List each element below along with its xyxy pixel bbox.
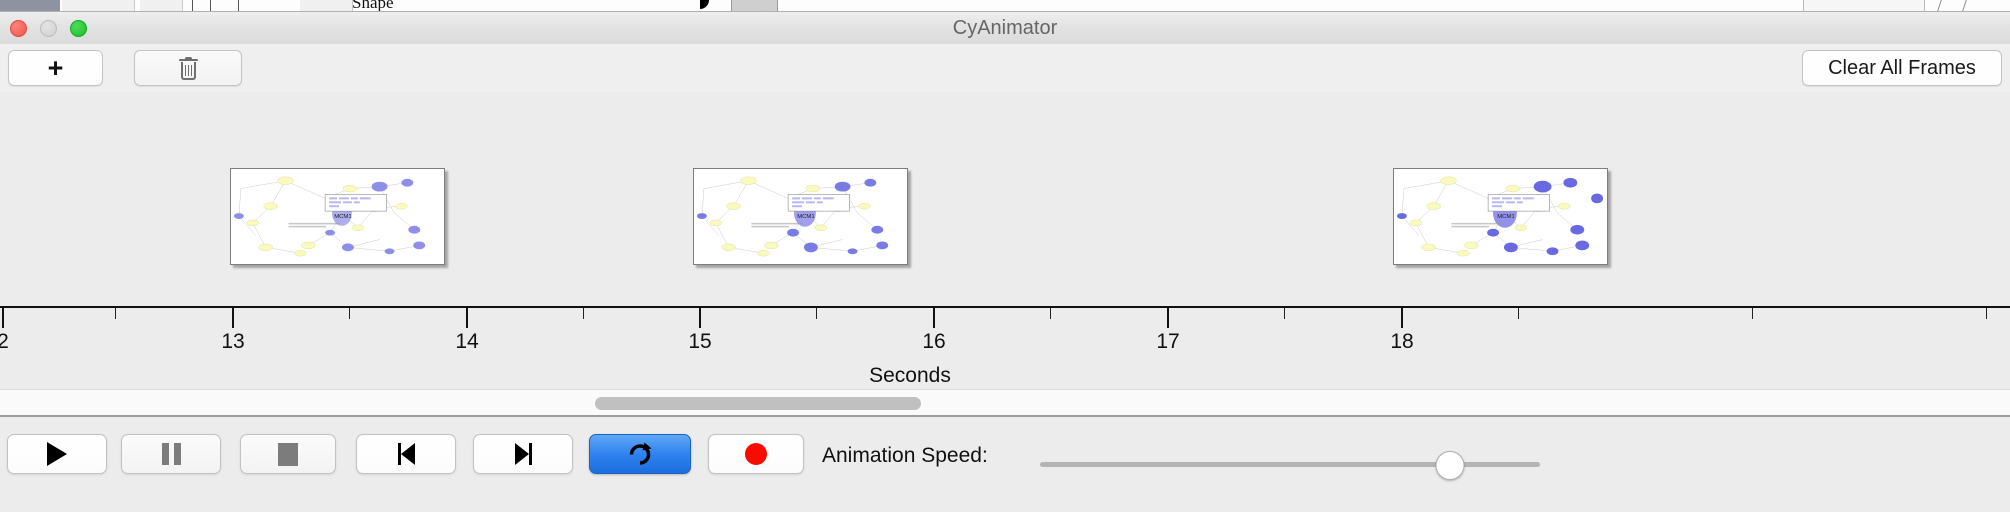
timeline-scrollbar[interactable] xyxy=(0,389,2010,416)
clear-all-frames-label: Clear All Frames xyxy=(1828,57,1976,80)
axis-major-tick xyxy=(1401,308,1403,328)
toolbar: + Clear All Frames xyxy=(0,44,2010,93)
skip-forward-button[interactable] xyxy=(473,434,573,474)
axis-tick-label: 14 xyxy=(455,330,478,354)
slider-track[interactable] xyxy=(1040,462,1540,467)
record-icon xyxy=(745,443,767,465)
axis-major-tick xyxy=(933,308,935,328)
svg-text:MCM1: MCM1 xyxy=(797,214,814,220)
record-button[interactable] xyxy=(708,434,804,474)
pause-icon xyxy=(162,443,181,465)
svg-text:MCM1: MCM1 xyxy=(334,214,351,220)
axis-tick-label: 15 xyxy=(688,330,711,354)
svg-text:MCM1: MCM1 xyxy=(1497,214,1514,220)
play-button[interactable] xyxy=(7,434,107,474)
plus-icon: + xyxy=(48,55,64,82)
axis-minor-tick xyxy=(816,308,817,319)
axis-minor-tick xyxy=(1284,308,1285,319)
network-graph-thumbnail: MCM1 xyxy=(694,169,907,264)
axis-minor-tick xyxy=(583,308,584,319)
skip-forward-icon xyxy=(515,443,532,465)
clear-all-frames-button[interactable]: Clear All Frames xyxy=(1802,50,2002,86)
title-bar: CyAnimator xyxy=(0,12,2010,45)
axis-tick-label: 16 xyxy=(922,330,945,354)
slider-thumb[interactable] xyxy=(1436,451,1465,480)
axis-minor-tick xyxy=(1050,308,1051,319)
axis-major-tick xyxy=(1167,308,1169,328)
axis-major-tick xyxy=(466,308,468,328)
axis-major-tick xyxy=(2,308,4,328)
animation-speed-label: Animation Speed: xyxy=(822,444,988,468)
scrollbar-thumb[interactable] xyxy=(595,397,921,410)
stop-icon xyxy=(278,443,298,466)
transport-bar: Animation Speed: xyxy=(0,415,2010,512)
play-icon xyxy=(47,442,67,466)
axis-minor-tick xyxy=(349,308,350,319)
stop-button[interactable] xyxy=(240,434,336,474)
axis-minor-tick xyxy=(1752,308,1753,319)
skip-backward-icon xyxy=(398,443,415,465)
loop-button[interactable] xyxy=(589,434,691,474)
cyanimator-window: Shape CyAnimator + xyxy=(0,0,2010,510)
network-graph-thumbnail: MCM1 xyxy=(1394,169,1607,264)
timeline-axis xyxy=(0,306,2010,308)
axis-title: Seconds xyxy=(0,364,2010,388)
timeline-frame-3[interactable]: MCM1 xyxy=(1393,168,1608,265)
loop-icon xyxy=(626,440,654,468)
pause-button[interactable] xyxy=(121,434,221,474)
skip-backward-button[interactable] xyxy=(356,434,456,474)
trash-icon xyxy=(179,57,198,80)
axis-minor-tick xyxy=(1518,308,1519,319)
axis-tick-label: 18 xyxy=(1390,330,1413,354)
background-window-strip: Shape xyxy=(0,0,2010,11)
animation-speed-slider[interactable] xyxy=(1040,462,1540,468)
axis-minor-tick xyxy=(115,308,116,319)
axis-tick-label: 13 xyxy=(221,330,244,354)
add-frame-button[interactable]: + xyxy=(8,50,103,86)
axis-tick-label: 2 xyxy=(0,330,9,354)
timeline-frame-2[interactable]: MCM1 xyxy=(693,168,908,265)
axis-tick-label: 17 xyxy=(1156,330,1179,354)
axis-major-tick xyxy=(699,308,701,328)
background-window-title: Shape xyxy=(352,0,394,11)
timeline-panel[interactable]: MCM1 xyxy=(0,92,2010,389)
axis-major-tick xyxy=(232,308,234,328)
delete-frame-button[interactable] xyxy=(134,50,242,86)
window-title: CyAnimator xyxy=(0,12,2010,44)
network-graph-thumbnail: MCM1 xyxy=(231,169,444,264)
axis-minor-tick xyxy=(1986,308,1987,319)
timeline-frame-1[interactable]: MCM1 xyxy=(230,168,445,265)
